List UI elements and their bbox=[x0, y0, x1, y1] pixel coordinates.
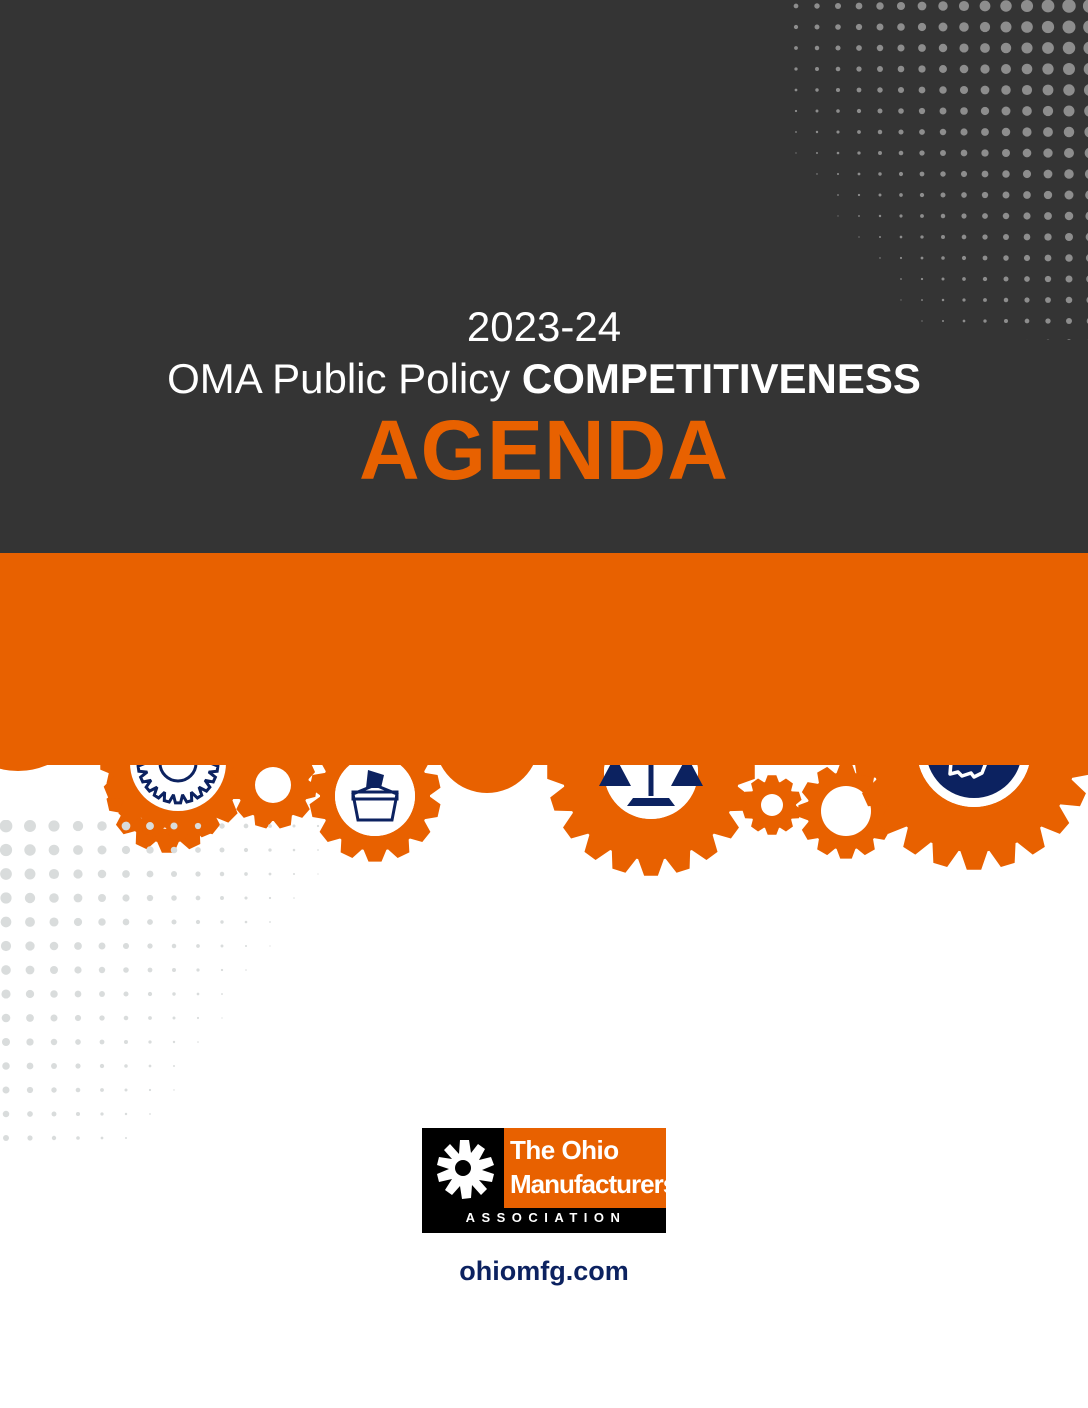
page-title: AGENDA bbox=[0, 406, 1088, 494]
document-page: 2023-24 OMA Public Policy COMPETITIVENES… bbox=[0, 0, 1088, 1408]
cover-title-block: 2023-24 OMA Public Policy COMPETITIVENES… bbox=[0, 306, 1088, 494]
gear-shape bbox=[742, 775, 801, 834]
orange-band-background bbox=[0, 553, 1088, 765]
page-subtitle: OMA Public Policy COMPETITIVENESS bbox=[0, 358, 1088, 400]
website-link[interactable]: ohiomfg.com bbox=[0, 1256, 1088, 1287]
logo-container: The Ohio Manufacturers’ ASSOCIATION bbox=[0, 1128, 1088, 1238]
ballot-box-icon bbox=[335, 756, 415, 836]
logo-line-1: The Ohio bbox=[510, 1133, 666, 1167]
oma-logo: The Ohio Manufacturers’ ASSOCIATION bbox=[422, 1128, 666, 1233]
subtitle-regular: OMA Public Policy bbox=[167, 355, 522, 402]
cover-header: 2023-24 OMA Public Policy COMPETITIVENES… bbox=[0, 0, 1088, 553]
subtitle-bold: COMPETITIVENESS bbox=[522, 355, 921, 402]
gear-icon bbox=[430, 1136, 498, 1200]
page-title-year: 2023-24 bbox=[0, 306, 1088, 348]
logo-line-2: Manufacturers’ bbox=[510, 1167, 666, 1201]
halftone-dots-light-decoration bbox=[0, 820, 330, 1150]
halftone-dots-decoration bbox=[788, 0, 1088, 340]
logo-wordmark: The Ohio Manufacturers’ bbox=[510, 1133, 666, 1205]
logo-association-text: ASSOCIATION bbox=[432, 1210, 660, 1225]
